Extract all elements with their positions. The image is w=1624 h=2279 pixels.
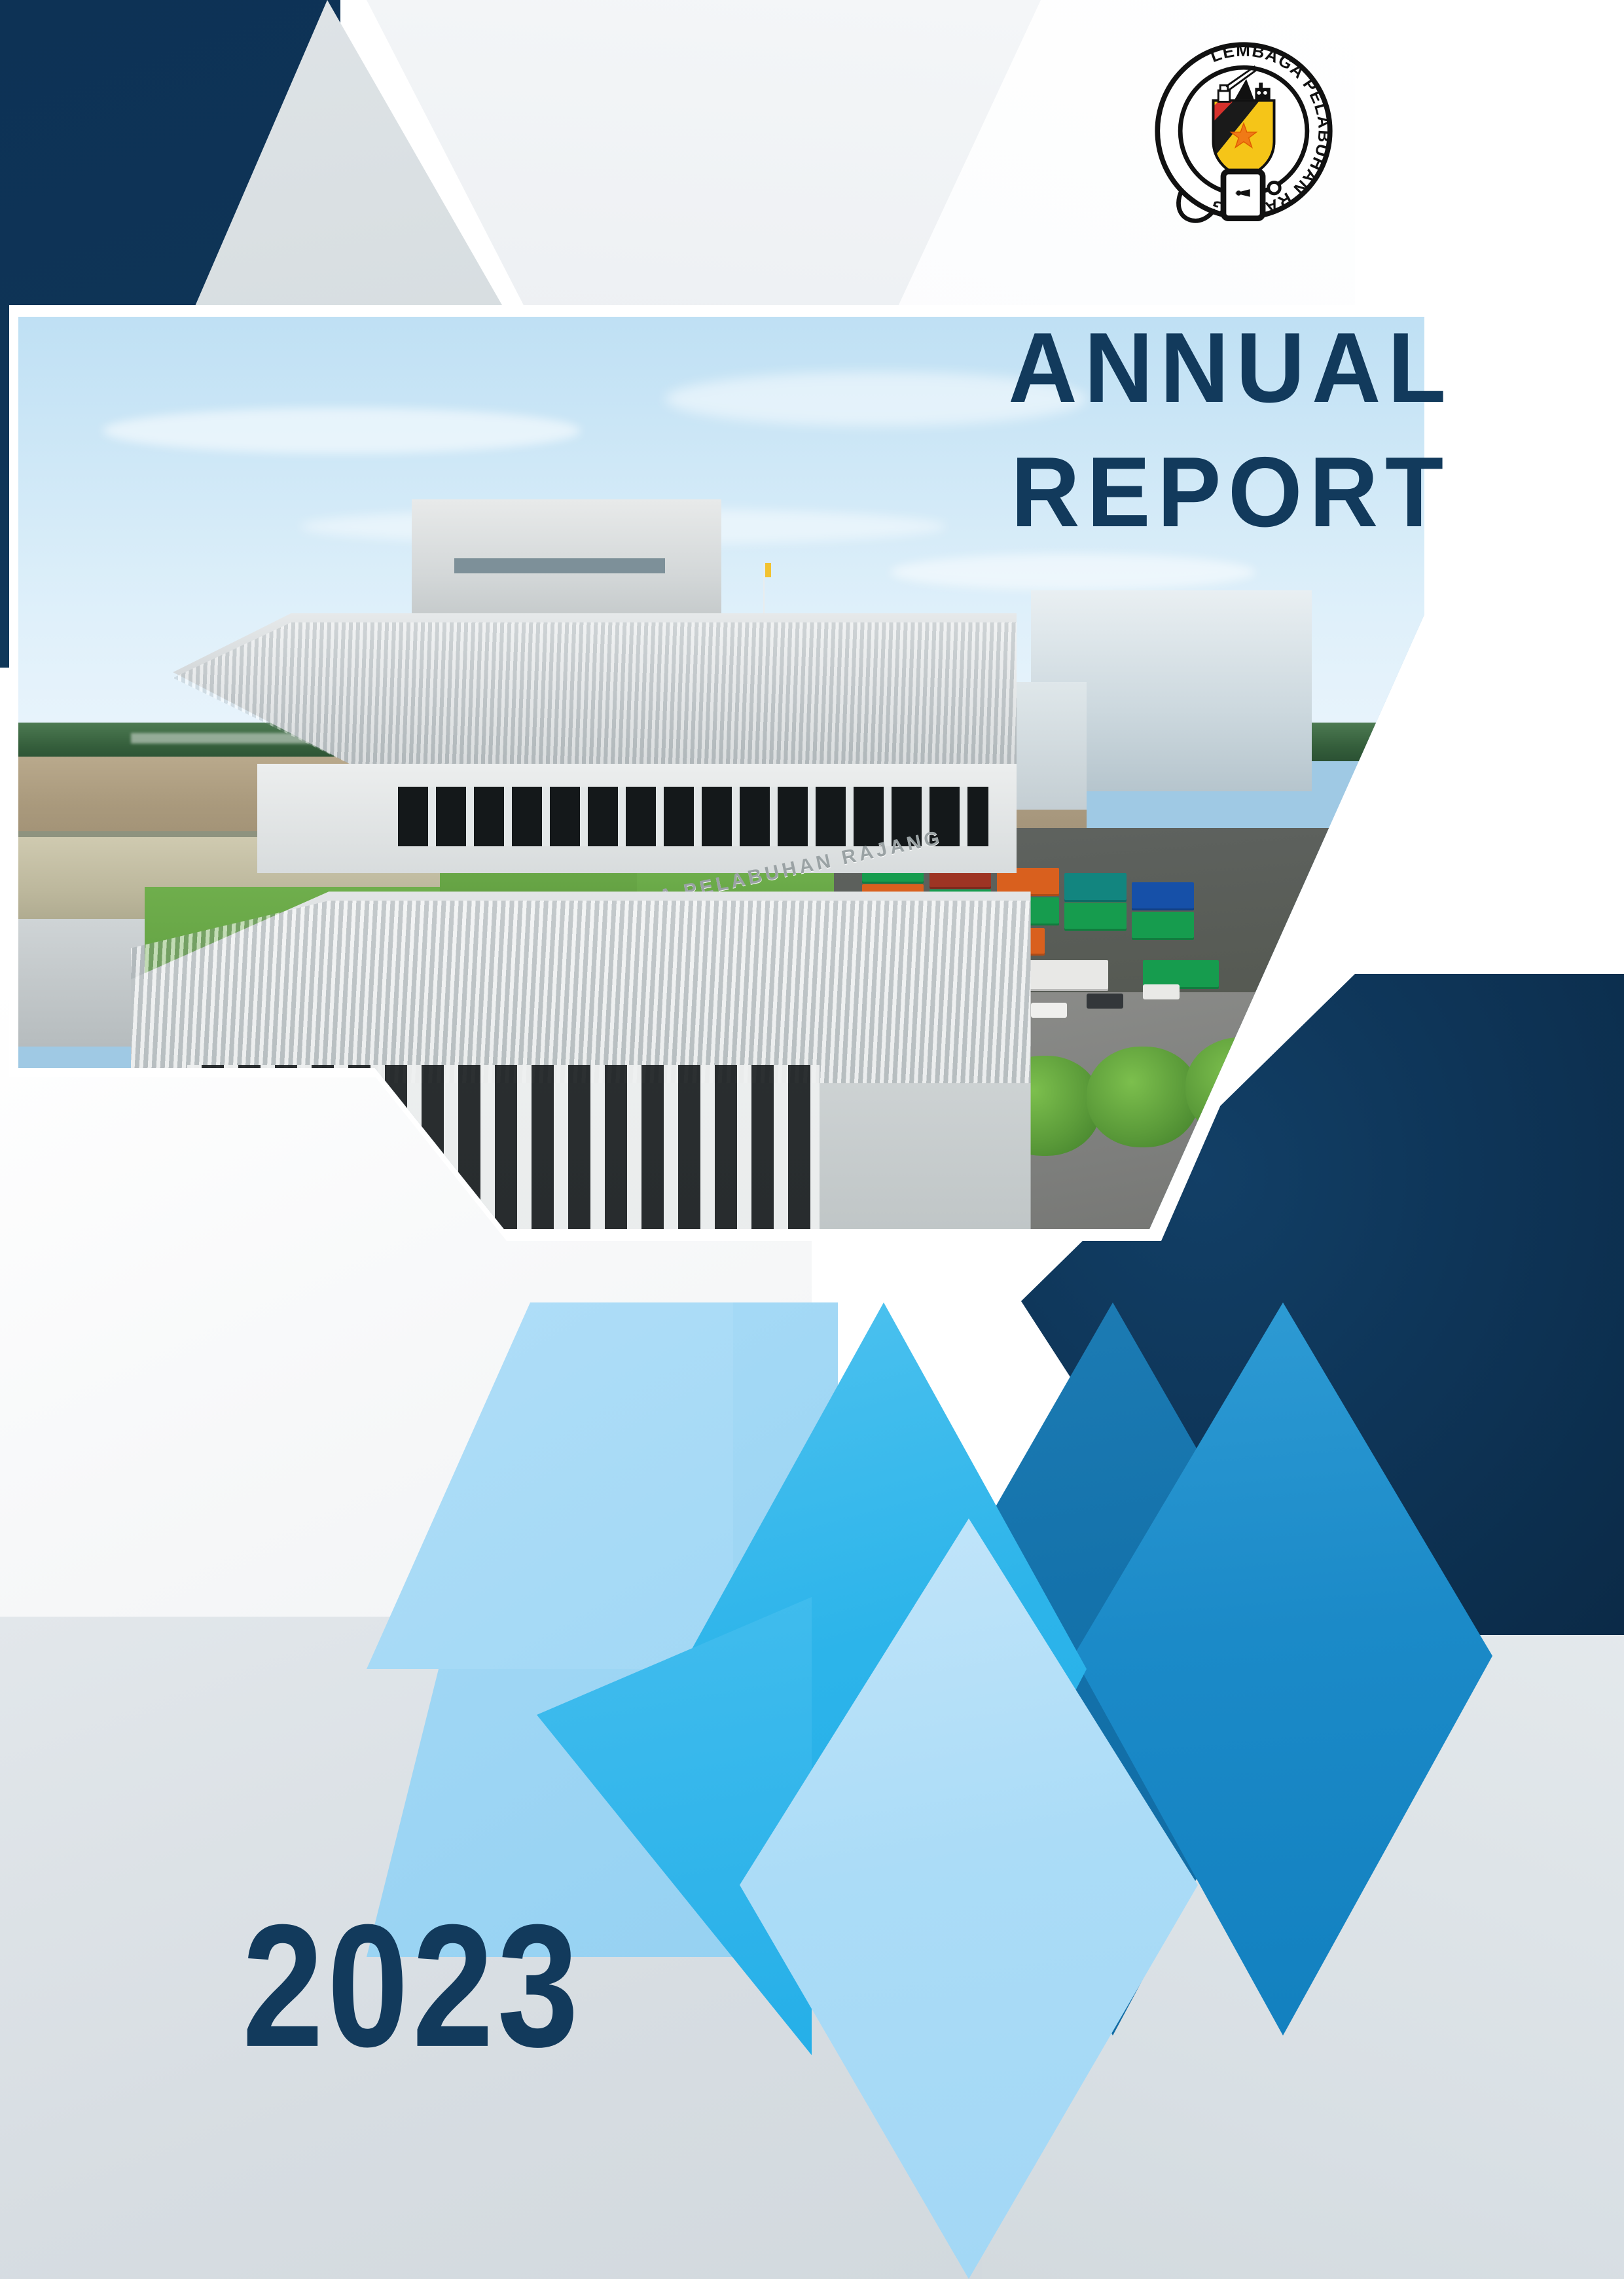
photo-container xyxy=(1132,882,1194,910)
title-line-report: REPORT xyxy=(885,439,1576,546)
logo-key-tab xyxy=(1223,171,1263,219)
photo-car xyxy=(1143,984,1180,999)
photo-reefer-container xyxy=(1024,960,1108,991)
photo-cloud xyxy=(890,554,1255,590)
photo-tree xyxy=(1087,1047,1199,1147)
annual-report-cover-page: LEMBAGA PELABUHAN RAJANG LEMBAGA PELABUH… xyxy=(0,0,1624,2279)
photo-cloud xyxy=(103,408,581,454)
photo-building-lower-louvers xyxy=(131,901,1031,1083)
photo-car xyxy=(1087,994,1123,1008)
organization-logo: LEMBAGA PELABUHAN RAJANG xyxy=(1142,29,1345,232)
cover-year: 2023 xyxy=(242,1885,583,2086)
photo-flag xyxy=(765,563,771,577)
photo-building-window-band xyxy=(454,558,665,573)
cover-title: ANNUAL REPORT xyxy=(871,314,1591,546)
photo-container xyxy=(1064,903,1127,931)
title-line-annual: ANNUAL xyxy=(885,314,1576,422)
photo-car xyxy=(1031,1003,1068,1017)
photo-container xyxy=(1064,873,1127,901)
photo-container xyxy=(1132,912,1194,940)
